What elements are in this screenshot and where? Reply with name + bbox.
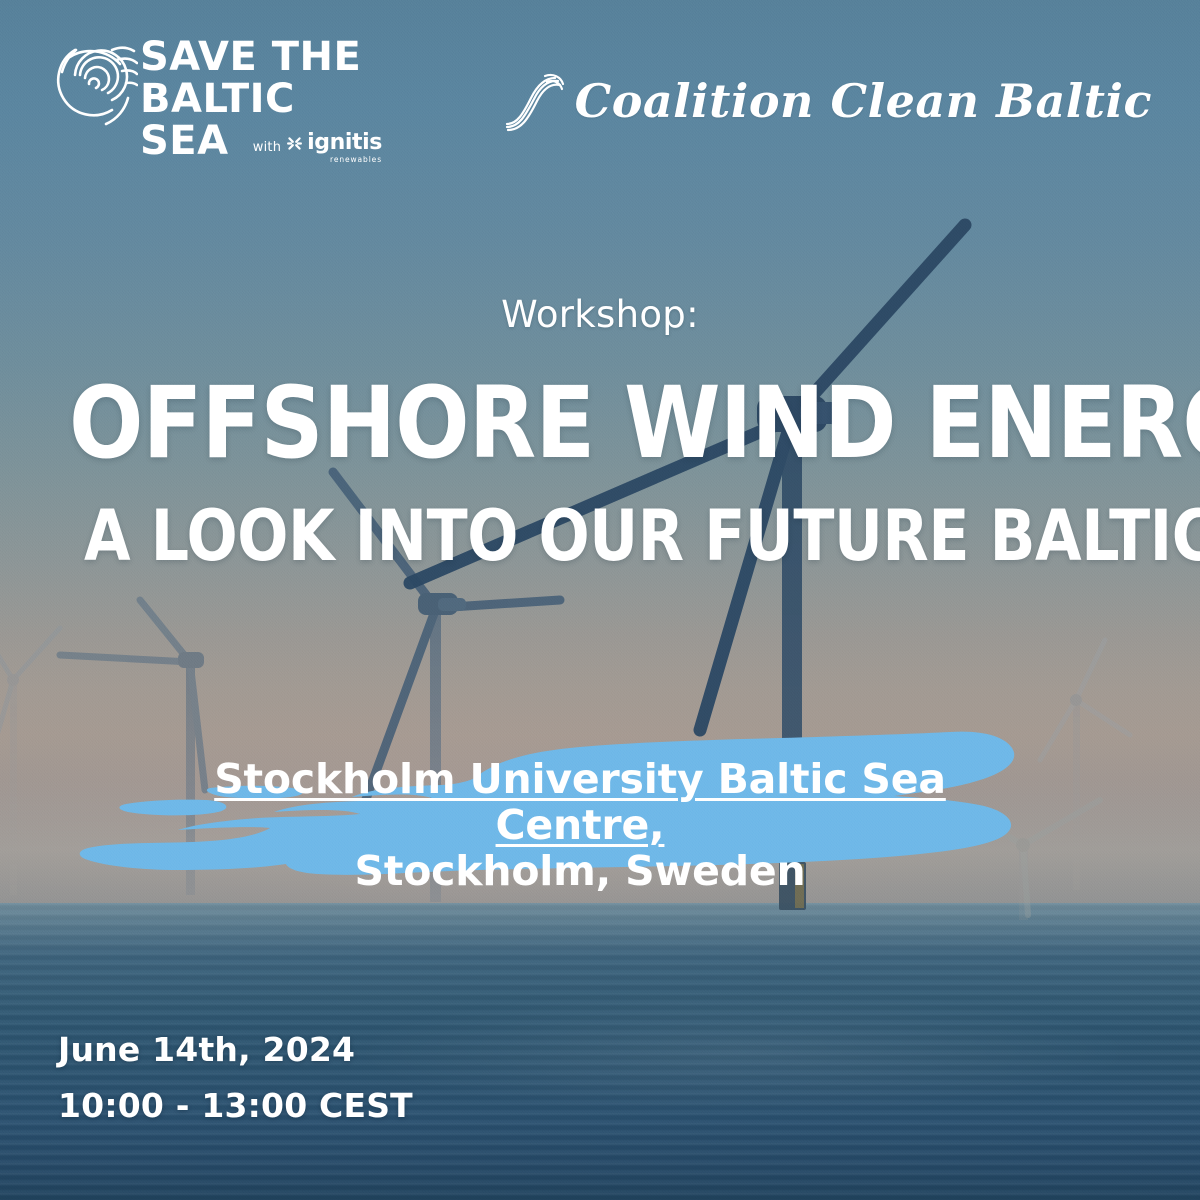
- event-poster: SAVE THE BALTIC SEA with: [0, 0, 1200, 1200]
- film-grain-overlay: [0, 0, 1200, 1200]
